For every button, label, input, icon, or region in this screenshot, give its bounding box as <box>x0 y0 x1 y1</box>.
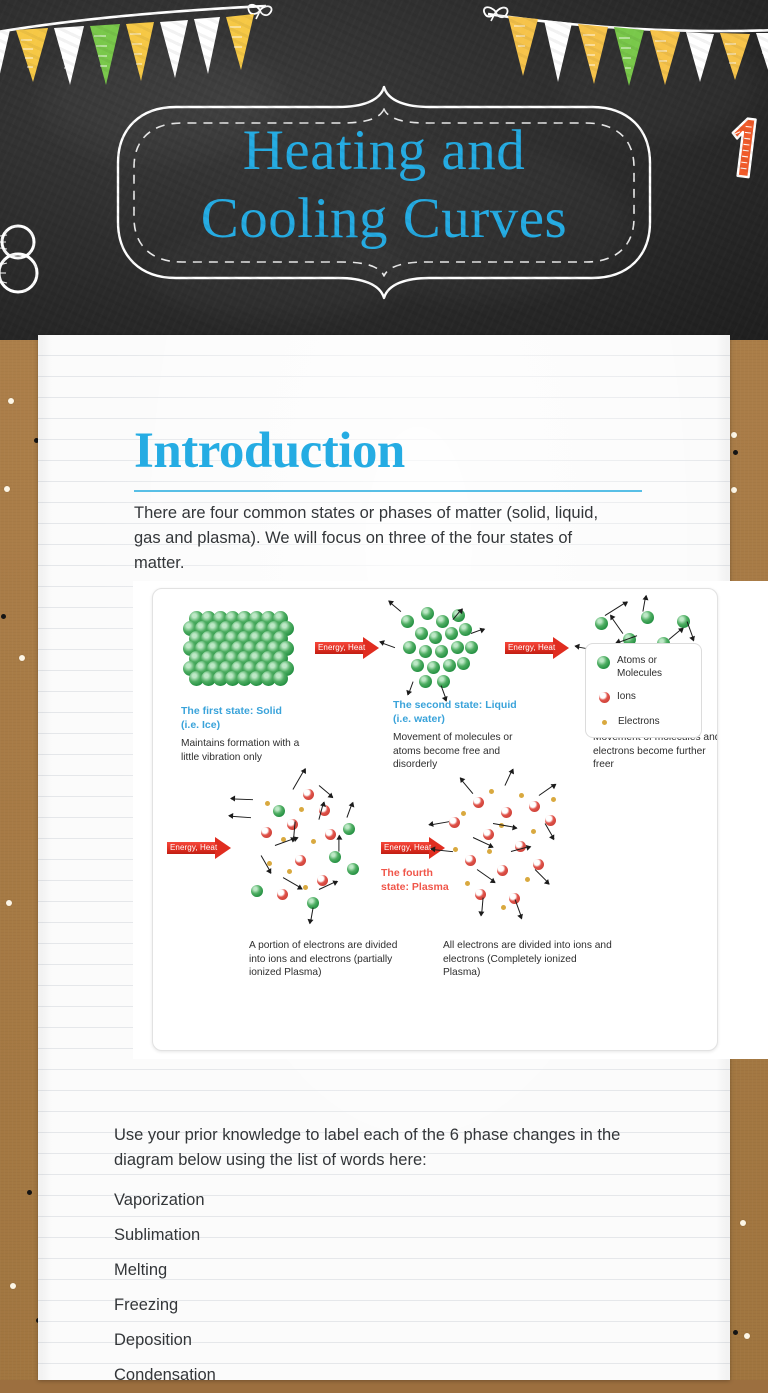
speckle <box>740 1220 746 1226</box>
energy-heat-arrow: Energy, Heat <box>167 837 231 859</box>
energy-heat-arrow: Energy, Heat <box>505 637 569 659</box>
panel-subtitle-text: (i.e. Ice) <box>181 719 220 731</box>
panel-title-text: The first state: Solid <box>181 705 282 717</box>
list-item[interactable]: Sublimation <box>114 1218 514 1253</box>
speckle <box>8 398 14 404</box>
panel-title-text: The second state: Liquid <box>393 699 517 711</box>
arrow-label: Energy, Heat <box>384 841 431 855</box>
arrow-label: Energy, Heat <box>318 641 365 655</box>
legend-row-electrons: Electrons <box>602 716 660 729</box>
speckle <box>10 1283 16 1289</box>
electrons-swatch-icon <box>602 720 607 725</box>
legend-row-ions: Ions <box>598 691 636 704</box>
list-item[interactable]: Deposition <box>114 1323 514 1358</box>
speckle <box>744 1333 750 1339</box>
panel-title-text: The fourth <box>381 867 433 879</box>
list-item[interactable]: Freezing <box>114 1288 514 1323</box>
number-eight-icon <box>0 218 46 298</box>
panel-title-plasma: The fourth state: Plasma <box>381 867 449 894</box>
page-title: Heating and Cooling Curves <box>112 117 656 253</box>
panel-desc-partial-plasma: A portion of electrons are divided into … <box>249 939 409 980</box>
bunting-right <box>478 0 768 100</box>
legend-label: Ions <box>617 691 636 704</box>
states-of-matter-diagram: Energy, Heat <box>153 589 717 1050</box>
speckle <box>731 432 737 438</box>
diagram-legend: Atoms or Molecules Ions Electrons <box>585 643 702 738</box>
panel-title-liquid: The second state: Liquid (i.e. water) <box>393 699 517 726</box>
panel-desc-full-plasma: All electrons are divided into ions and … <box>443 939 613 980</box>
title-line-1: Heating and <box>112 117 656 185</box>
section-heading: Introduction <box>134 423 654 479</box>
number-one-icon <box>718 112 764 184</box>
arrow-label: Energy, Heat <box>508 641 555 655</box>
speckle <box>733 1330 738 1335</box>
list-item[interactable]: Vaporization <box>114 1183 514 1218</box>
task-instruction: Use your prior knowledge to label each o… <box>114 1123 674 1173</box>
notebook-paper: Introduction There are four common state… <box>38 335 730 1380</box>
legend-label: Electrons <box>618 716 660 729</box>
energy-heat-arrow: Energy, Heat <box>381 837 445 859</box>
panel-desc-liquid: Movement of molecules or atoms become fr… <box>393 731 518 772</box>
atoms-swatch-icon <box>597 656 610 669</box>
title-line-2: Cooling Curves <box>112 185 656 253</box>
legend-label: Atoms or Molecules <box>617 655 662 680</box>
panel-desc-solid: Maintains formation with a little vibrat… <box>181 737 311 764</box>
ions-swatch-icon <box>599 692 610 703</box>
title-frame-outline <box>112 85 656 300</box>
panel-subtitle-text: (i.e. water) <box>393 713 445 725</box>
list-item[interactable]: Melting <box>114 1253 514 1288</box>
legend-row-atoms: Atoms or Molecules <box>597 655 662 680</box>
energy-heat-arrow: Energy, Heat <box>315 637 379 659</box>
speckle <box>733 450 738 455</box>
states-of-matter-image[interactable]: Energy, Heat <box>152 588 718 1051</box>
bunting-left <box>0 0 284 100</box>
speckle <box>27 1190 32 1195</box>
phase-change-word-list: Vaporization Sublimation Melting Freezin… <box>114 1183 514 1393</box>
speckle <box>731 487 737 493</box>
panel-title-solid: The first state: Solid (i.e. Ice) <box>181 705 282 732</box>
speckle <box>6 900 12 906</box>
speckle <box>4 486 10 492</box>
heading-underline <box>134 490 642 492</box>
list-item[interactable]: Condensation <box>114 1358 514 1393</box>
section-paragraph: There are four common states or phases o… <box>134 501 624 576</box>
speckle <box>19 655 25 661</box>
panel-subtitle-text: state: Plasma <box>381 881 449 893</box>
title-frame: Heating and Cooling Curves <box>112 85 656 300</box>
chalkboard-header: Heating and Cooling Curves <box>0 0 768 340</box>
arrow-label: Energy, Heat <box>170 841 217 855</box>
speckle <box>1 614 6 619</box>
